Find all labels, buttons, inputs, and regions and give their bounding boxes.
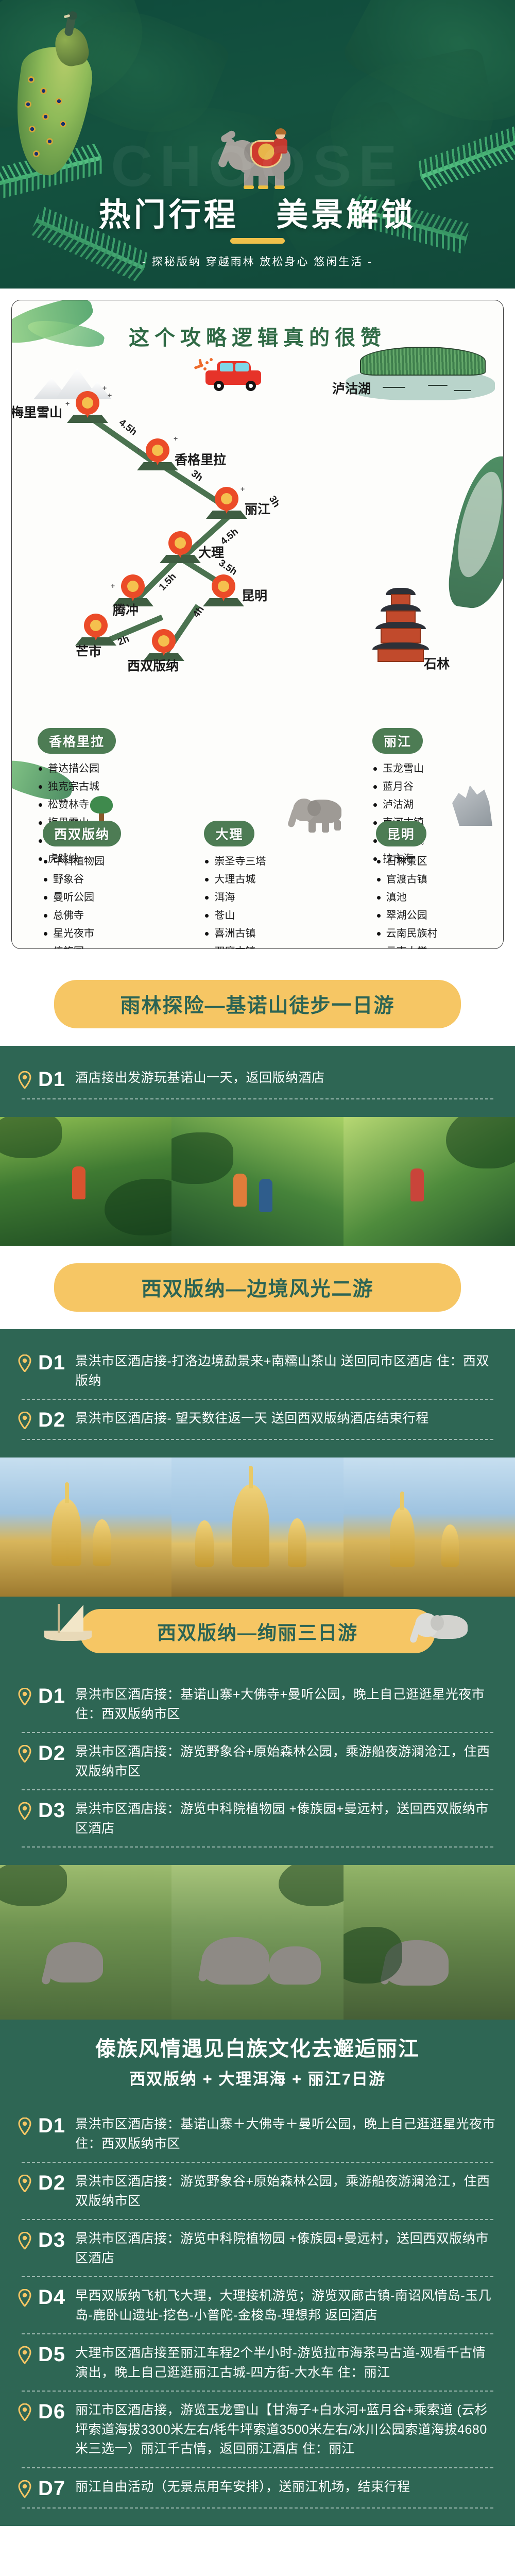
map-city-label: 腾冲 <box>113 600 139 619</box>
list-item: 独克宗古城 <box>38 778 192 796</box>
region-spot-list: 中科植物园 野象谷 曼听公园 总佛寺 星光夜市 傣族园 原始森林公园 <box>43 853 194 949</box>
photo <box>344 1865 515 2020</box>
list-item: 总佛寺 <box>43 907 194 925</box>
map-landmark-label: 石林 <box>424 654 450 672</box>
list-item: 崇圣寺三塔 <box>204 853 355 871</box>
photo <box>0 1865 171 2020</box>
day-code: D2 <box>35 2172 75 2194</box>
location-pin-icon <box>18 2401 35 2421</box>
list-item: 星光夜市 <box>43 925 194 943</box>
list-item: 野象谷 <box>43 871 194 889</box>
divider <box>22 1846 493 1848</box>
list-item: 石林景区 <box>376 853 504 871</box>
infographic-page: CHOOSE 热门行程 美景解锁 - 探秘版纳 穿越雨林 放松身心 悠闲生活 -… <box>0 0 515 2526</box>
day-description: 景洪市区酒店接- 望天数往返一天 送回西双版纳酒店结束行程 <box>75 1409 429 1429</box>
day-description: 景洪市区酒店接：基诺山寨+大佛寺+曼听公园，晚上自己逛逛星光夜市 住：西双版纳市… <box>75 1685 497 1724</box>
day-item: D2 景洪市区酒店接：游览野象谷+原始森林公园，乘游船夜游澜沧江，住西双版纳市区 <box>18 1733 497 1789</box>
day-item: D1 景洪市区酒店接：基诺山寨＋大佛寺＋曼听公园，晚上自己逛逛星光夜市 住：西双… <box>18 2106 497 2162</box>
map-city-label: 大理 <box>198 543 224 561</box>
region-spot-list: 石林景区 官渡古镇 滇池 翠湖公园 云南民族村 云南大学 <box>376 853 504 949</box>
day-code: D2 <box>35 1742 75 1764</box>
section-main-title: 傣族风情遇见白族文化去邂逅丽江 <box>0 2032 515 2062</box>
day-description: 景洪市区酒店接：游览野象谷+原始森林公园，乘游船夜游澜沧江，住西双版纳市区 <box>75 2172 497 2211</box>
section-banner: 雨林探险—基诺山徒步一日游 <box>54 980 461 1028</box>
car-icon <box>203 361 265 393</box>
location-pin-icon <box>18 1685 35 1705</box>
location-pin-icon <box>18 2229 35 2249</box>
section-banner: 西双版纳—绚丽三日游 <box>80 1609 435 1653</box>
divider <box>22 2507 493 2509</box>
list-item: 云南民族村 <box>376 925 504 943</box>
list-item: 傣族园 <box>43 943 194 949</box>
map-city-label: 香格里拉 <box>175 450 226 468</box>
list-item: 翠湖公园 <box>376 907 504 925</box>
page-title-left: 热门行程 <box>99 197 239 233</box>
photo-strip-temple <box>0 1458 515 1597</box>
day-description: 景洪市区酒店接-打洛边境勐景来+南糯山茶山 送回同市区酒店 住：西双版纳 <box>75 1352 497 1391</box>
divider <box>22 1439 493 1440</box>
list-item: 玉龙雪山 <box>372 760 504 778</box>
list-item: 松赞林寺 <box>38 796 192 814</box>
location-pin-icon <box>18 1069 35 1089</box>
list-item: 双廊古镇 <box>204 943 355 949</box>
pagoda-icon <box>372 583 429 665</box>
day-description: 景洪市区酒店接：游览中科院植物园 +傣族园+曼远村，送回西双版纳市区酒店 <box>75 1800 497 1838</box>
region-group-xishuangbanna: 西双版纳 中科植物园 野象谷 曼听公园 总佛寺 星光夜市 傣族园 原始森林公园 <box>12 821 194 949</box>
day-item: D1 酒店接出发游玩基诺山一天，返回版纳酒店 <box>18 1059 497 1098</box>
photo-strip-elephants <box>0 1865 515 2020</box>
region-badge: 丽江 <box>372 728 423 754</box>
day-code: D1 <box>35 2115 75 2137</box>
region-badge: 西双版纳 <box>43 821 121 846</box>
list-item: 洱海 <box>204 889 355 907</box>
lake-scenery-icon <box>346 347 495 408</box>
day-description: 早西双版纳飞机飞大理，大理接机游览；游览双廊古镇-南诏风情岛-玉几岛-鹿卧山遗址… <box>75 2286 497 2325</box>
day-description: 酒店接出发游玩基诺山一天，返回版纳酒店 <box>75 1069 325 1088</box>
photo <box>344 1458 515 1597</box>
photo <box>171 1117 343 1246</box>
list-item: 普达措公园 <box>38 760 192 778</box>
section-3-days: D1 景洪市区酒店接：基诺山寨+大佛寺+曼听公园，晚上自己逛逛星光夜市 住：西双… <box>0 1663 515 1865</box>
map-landmark-label: 泸沽湖 <box>332 379 371 397</box>
route-map-card: 这个攻略逻辑真的很赞 <box>11 300 504 949</box>
region-badge: 香格里拉 <box>38 728 116 754</box>
list-item: 苍山 <box>204 907 355 925</box>
list-item: 喜洲古镇 <box>204 925 355 943</box>
day-item: D1 景洪市区酒店接：基诺山寨+大佛寺+曼听公园，晚上自己逛逛星光夜市 住：西双… <box>18 1676 497 1732</box>
day-description: 大理市区酒店接至丽江车程2个半小时-游览拉市海茶马古道-观看千古情演出，晚上自己… <box>75 2344 497 2382</box>
day-code: D6 <box>35 2401 75 2422</box>
map-pin[interactable] <box>74 391 101 425</box>
section-1-banner-wrap: 雨林探险—基诺山徒步一日游 <box>0 962 515 1046</box>
route-map: + + + + + + + + 梅里雪山 香格里拉 丽江 大理 腾冲 昆明 芒市… <box>12 361 504 722</box>
map-section: 这个攻略逻辑真的很赞 <box>0 289 515 962</box>
location-pin-icon <box>18 1800 35 1820</box>
day-item: D2 景洪市区酒店接：游览野象谷+原始森林公园，乘游船夜游澜沧江，住西双版纳市区 <box>18 2163 497 2219</box>
photo <box>0 1458 171 1597</box>
location-pin-icon <box>18 1742 35 1762</box>
page-subtitle: - 探秘版纳 穿越雨林 放松身心 悠闲生活 - <box>0 253 515 269</box>
region-legend-row-bottom: 西双版纳 中科植物园 野象谷 曼听公园 总佛寺 星光夜市 傣族园 原始森林公园 … <box>12 821 504 949</box>
region-badge: 大理 <box>204 821 254 846</box>
region-group-kunming: 昆明 石林景区 官渡古镇 滇池 翠湖公园 云南民族村 云南大学 <box>355 821 504 949</box>
day-code: D1 <box>35 1685 75 1707</box>
day-code: D7 <box>35 2478 75 2499</box>
day-item: D3 景洪市区酒店接：游览中科院植物园 +傣族园+曼远村，送回西双版纳市区酒店 <box>18 1790 497 1846</box>
photo <box>0 1117 171 1246</box>
photo <box>171 1865 343 2020</box>
location-pin-icon <box>18 1409 35 1429</box>
day-code: D3 <box>35 1800 75 1821</box>
day-code: D1 <box>35 1352 75 1374</box>
day-code: D3 <box>35 2229 75 2251</box>
map-pin[interactable] <box>213 487 241 521</box>
location-pin-icon <box>18 1352 35 1372</box>
list-item: 曼听公园 <box>43 889 194 907</box>
day-code: D4 <box>35 2286 75 2308</box>
location-pin-icon <box>18 2286 35 2307</box>
day-item: D6 丽江市区酒店接，游览玉龙雪山【甘海子+白水河+蓝月谷+乘索道 (云杉坪索道… <box>18 2392 497 2467</box>
photo <box>344 1117 515 1246</box>
day-item: D5 大理市区酒店接至丽江车程2个半小时-游览拉市海茶马古道-观看千古情演出，晚… <box>18 2334 497 2391</box>
day-description: 丽江市区酒店接，游览玉龙雪山【甘海子+白水河+蓝月谷+乘索道 (云杉坪索道海拔3… <box>75 2401 497 2459</box>
map-city-label: 梅里雪山 <box>11 402 62 421</box>
list-item: 滇池 <box>376 889 504 907</box>
section-banner: 西双版纳—边境风光二游 <box>54 1263 461 1312</box>
photo-strip-jungle <box>0 1117 515 1246</box>
page-title-right: 美景解锁 <box>276 197 416 233</box>
hero-banner: CHOOSE 热门行程 美景解锁 - 探秘版纳 穿越雨林 放松身心 悠闲生活 - <box>0 0 515 289</box>
title-divider <box>230 238 285 244</box>
day-code: D2 <box>35 1409 75 1431</box>
map-city-label: 丽江 <box>245 499 270 518</box>
list-item: 云南大学 <box>376 943 504 949</box>
section-2-days: D1 景洪市区酒店接-打洛边境勐景来+南糯山茶山 送回同市区酒店 住：西双版纳 … <box>0 1329 515 1458</box>
day-item: D3 景洪市区酒店接：游览中科院植物园 +傣族园+曼远村，送回西双版纳市区酒店 <box>18 2220 497 2276</box>
map-city-label: 西双版纳 <box>127 656 179 674</box>
day-code: D5 <box>35 2344 75 2365</box>
day-item: D7 丽江自由活动（无景点用车安排），送丽江机场，结束行程 <box>18 2468 497 2507</box>
location-pin-icon <box>18 2478 35 2498</box>
elephant-icon <box>413 1608 479 1647</box>
divider <box>22 1098 493 1099</box>
map-pin[interactable] <box>144 438 171 472</box>
day-description: 景洪市区酒店接：游览中科院植物园 +傣族园+曼远村，送回西双版纳市区酒店 <box>75 2229 497 2268</box>
section-1-days: D1 酒店接出发游玩基诺山一天，返回版纳酒店 <box>0 1046 515 1117</box>
location-pin-icon <box>18 2115 35 2135</box>
map-city-label: 昆明 <box>242 586 267 604</box>
list-item: 中科植物园 <box>43 853 194 871</box>
location-pin-icon <box>18 2344 35 2364</box>
list-item: 大理古城 <box>204 871 355 889</box>
section-sub-title: 西双版纳 + 大理洱海 + 丽江7日游 <box>0 2062 515 2089</box>
list-item: 官渡古镇 <box>376 871 504 889</box>
section-3-banner-wrap: 西双版纳—绚丽三日游 <box>0 1597 515 1663</box>
day-item: D4 早西双版纳飞机飞大理，大理接机游览；游览双廊古镇-南诏风情岛-玉几岛-鹿卧… <box>18 2277 497 2333</box>
day-description: 景洪市区酒店接：基诺山寨＋大佛寺＋曼听公园，晚上自己逛逛星光夜市 住：西双版纳市… <box>75 2115 497 2154</box>
section-4-header: 傣族风情遇见白族文化去邂逅丽江 西双版纳 + 大理洱海 + 丽江7日游 <box>0 2020 515 2092</box>
map-pin[interactable] <box>166 531 194 565</box>
map-city-label: 芒市 <box>76 641 101 660</box>
page-title: 热门行程 美景解锁 <box>0 189 515 235</box>
region-badge: 昆明 <box>376 821 426 846</box>
day-code: D1 <box>35 1069 75 1090</box>
region-group-dali: 大理 崇圣寺三塔 大理古城 洱海 苍山 喜洲古镇 双廊古镇 <box>194 821 355 949</box>
location-pin-icon <box>18 2172 35 2192</box>
photo <box>171 1458 343 1597</box>
boat-icon <box>44 1605 92 1644</box>
region-spot-list: 崇圣寺三塔 大理古城 洱海 苍山 喜洲古镇 双廊古镇 <box>204 853 355 949</box>
section-2-banner-wrap: 西双版纳—边境风光二游 <box>0 1246 515 1329</box>
day-description: 丽江自由活动（无景点用车安排），送丽江机场，结束行程 <box>75 2478 410 2497</box>
section-4-days: D1 景洪市区酒店接：基诺山寨＋大佛寺＋曼听公园，晚上自己逛逛星光夜市 住：西双… <box>0 2092 515 2526</box>
map-pin[interactable] <box>210 574 237 608</box>
day-item: D1 景洪市区酒店接-打洛边境勐景来+南糯山茶山 送回同市区酒店 住：西双版纳 <box>18 1343 497 1399</box>
day-description: 景洪市区酒店接：游览野象谷+原始森林公园，乘游船夜游澜沧江，住西双版纳市区 <box>75 1742 497 1781</box>
day-item: D2 景洪市区酒店接- 望天数往返一天 送回西双版纳酒店结束行程 <box>18 1400 497 1439</box>
